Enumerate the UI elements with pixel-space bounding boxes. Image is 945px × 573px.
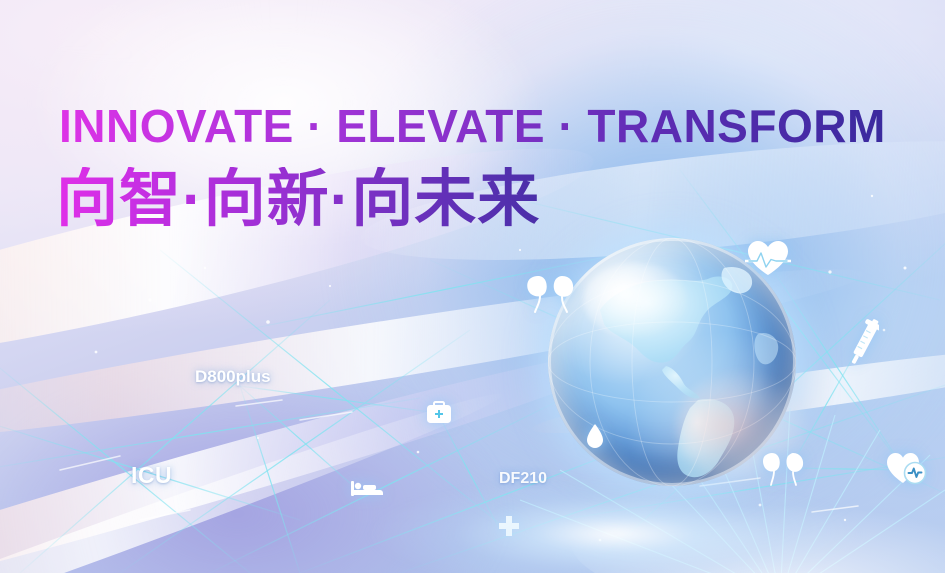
heart-pulse-icon <box>745 238 791 278</box>
page-title: INNOVATE · ELEVATE · TRANSFORM <box>59 103 886 149</box>
light-burst <box>303 275 927 573</box>
hero-banner: INNOVATE · ELEVATE · TRANSFORM 向智·向新·向未来… <box>0 0 945 573</box>
label-d800plus: D800plus <box>195 367 271 387</box>
label-icu: ICU <box>131 462 172 489</box>
page-subtitle: 向智·向新·向未来 <box>56 167 540 232</box>
label-df210: DF210 <box>499 470 547 488</box>
